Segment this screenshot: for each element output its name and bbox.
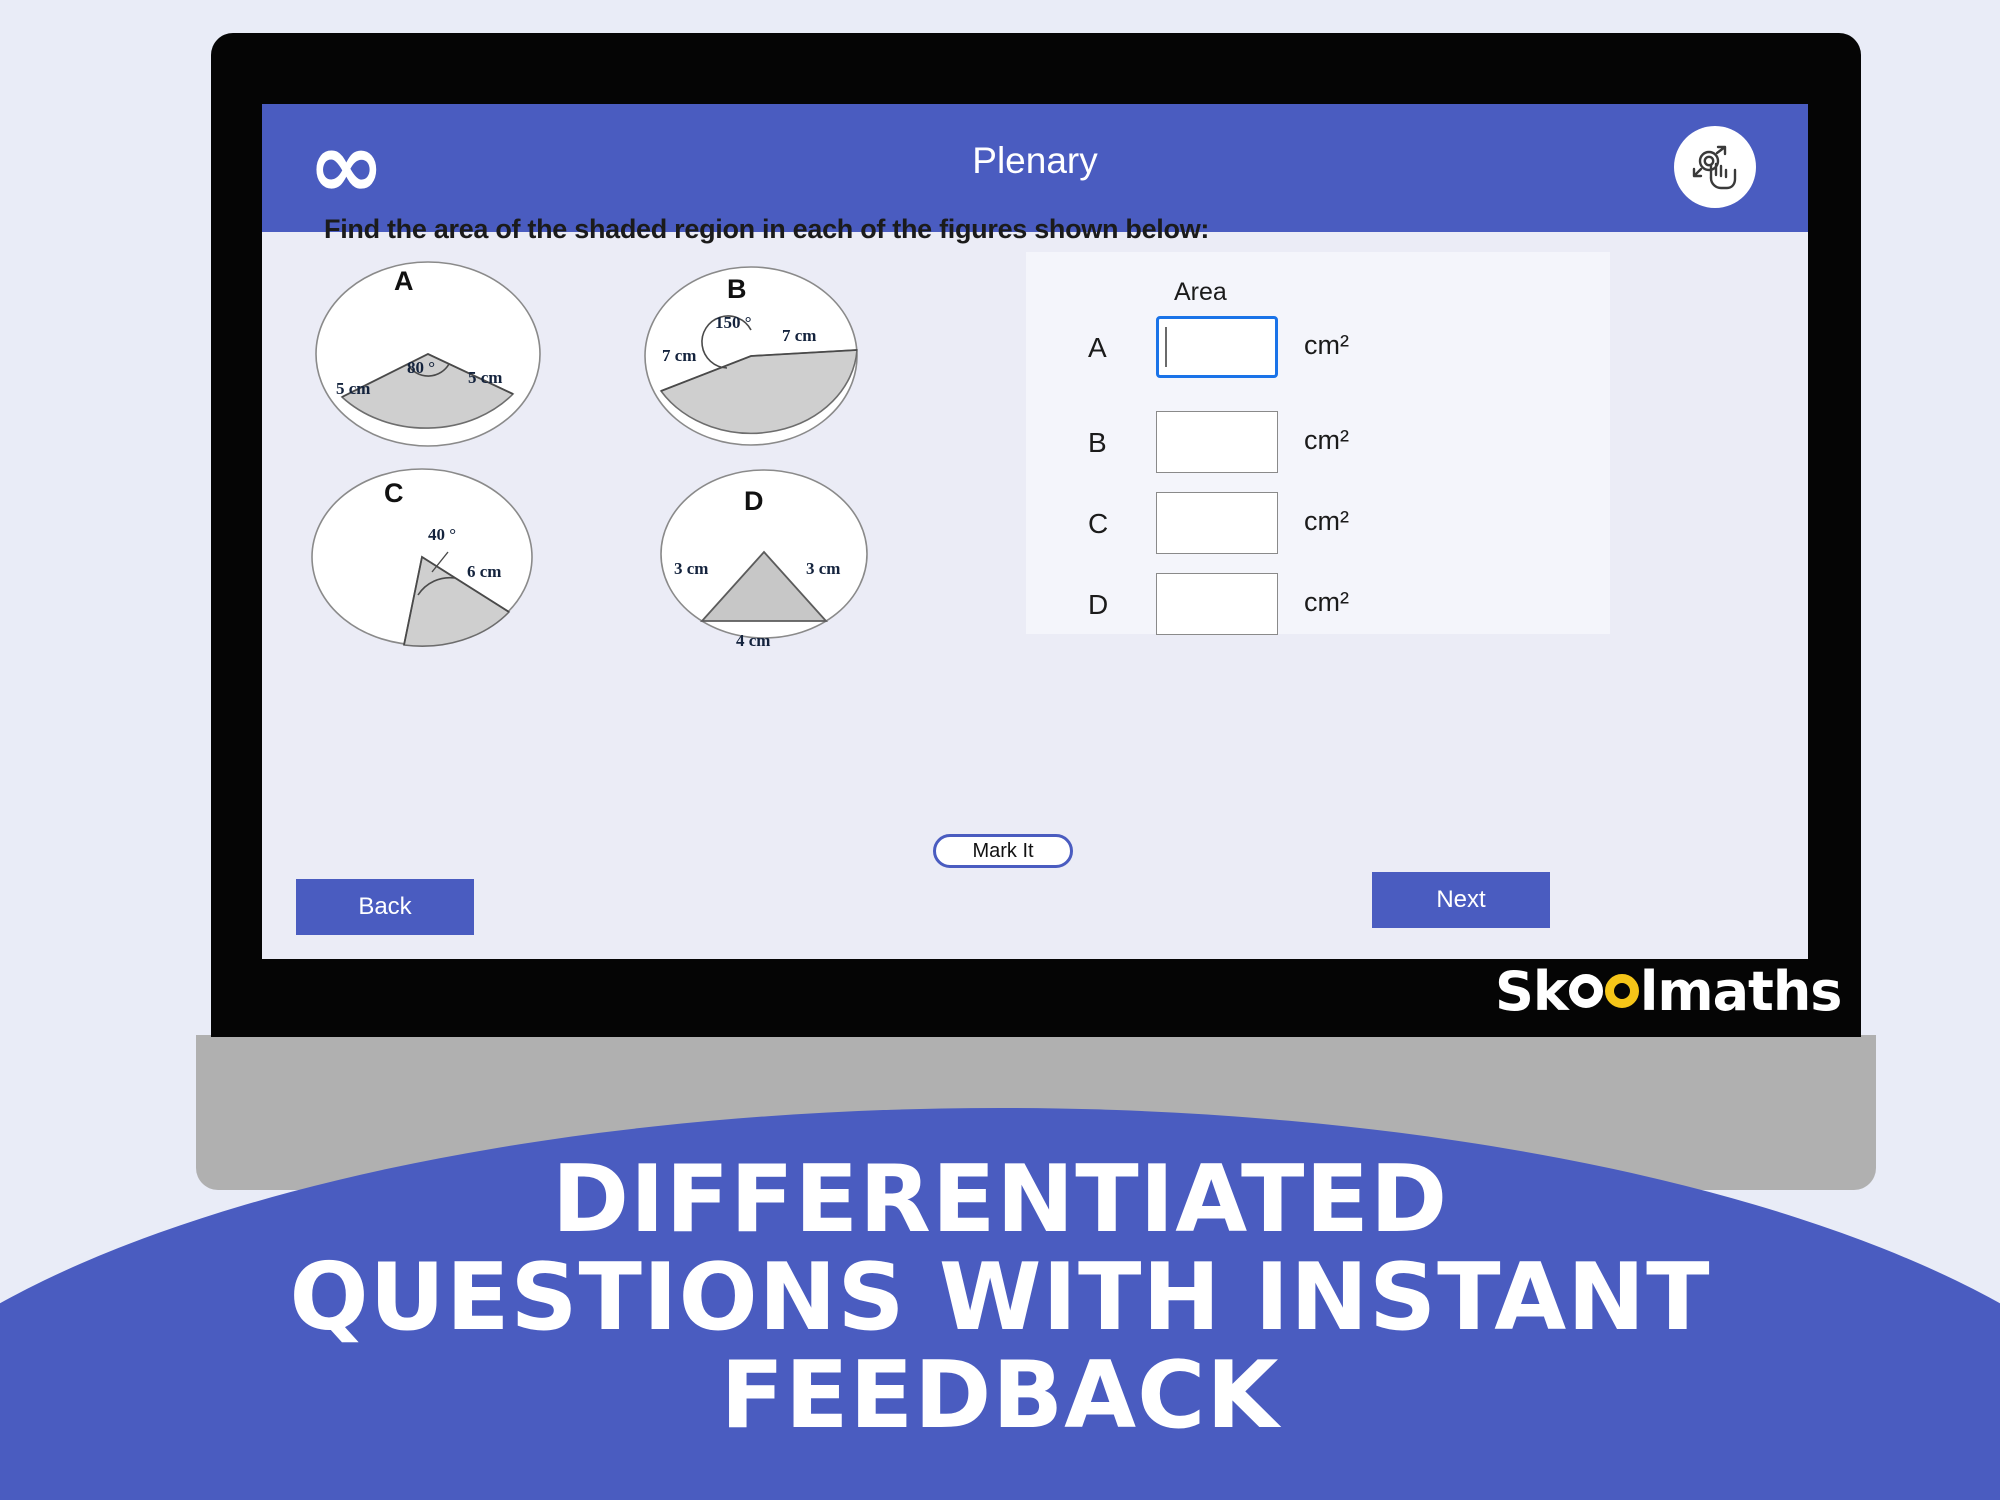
svg-text:5 cm: 5 cm (468, 368, 502, 387)
question-prompt: Find the area of the shaded region in ea… (324, 214, 1209, 245)
area-column-header: Area (1174, 278, 1227, 307)
answer-unit-c: cm² (1304, 506, 1349, 537)
answer-row-b: B cm² (1026, 411, 1610, 473)
svg-text:5 cm: 5 cm (336, 379, 370, 398)
figure-b: B 150 ° 7 cm 7 cm (639, 258, 869, 453)
next-button[interactable]: Next (1372, 872, 1550, 928)
answer-input-b[interactable] (1156, 411, 1278, 473)
answer-panel: Area A cm² B cm² C cm² D cm (1026, 252, 1610, 634)
brand-prefix: Sk (1495, 960, 1568, 1023)
skoolmaths-logo: Sk lmaths (1495, 963, 1841, 1019)
svg-text:80 °: 80 ° (407, 358, 435, 377)
answer-label-c: C (1088, 508, 1108, 540)
answer-label-b: B (1088, 427, 1107, 459)
answer-row-d: D cm² (1026, 573, 1610, 635)
promo-banner-text: DIFFERENTIATED QUESTIONS WITH INSTANT FE… (0, 1150, 2000, 1444)
page-title: Plenary (262, 140, 1808, 182)
figure-c: C 40 ° 6 cm (304, 460, 544, 655)
answer-unit-a: cm² (1304, 330, 1349, 361)
drag-gesture-icon[interactable] (1674, 126, 1756, 208)
svg-text:40 °: 40 ° (428, 525, 456, 544)
svg-text:D: D (744, 486, 764, 516)
svg-text:4 cm: 4 cm (736, 631, 770, 650)
promo-line-2: QUESTIONS WITH INSTANT (0, 1248, 2000, 1346)
svg-text:7 cm: 7 cm (662, 346, 696, 365)
answer-row-a: A cm² (1026, 316, 1610, 378)
back-button[interactable]: Back (296, 879, 474, 935)
answer-input-a[interactable] (1156, 316, 1278, 378)
poster-canvas: ∞ Plenary Find the area of the shaded re… (0, 0, 2000, 1500)
svg-text:3 cm: 3 cm (806, 559, 840, 578)
promo-line-3: FEEDBACK (0, 1346, 2000, 1444)
promo-line-1: DIFFERENTIATED (0, 1150, 2000, 1248)
brand-suffix: lmaths (1640, 960, 1842, 1023)
app-header: ∞ Plenary (262, 104, 1808, 232)
figure-d: D 3 cm 3 cm 4 cm (654, 460, 884, 660)
svg-text:C: C (384, 478, 404, 508)
figure-a: A 80 ° 5 cm 5 cm (308, 254, 548, 454)
answer-input-d[interactable] (1156, 573, 1278, 635)
brand-oo-icon (1568, 974, 1640, 1008)
ring-gold-icon (1605, 974, 1639, 1008)
answer-row-c: C cm² (1026, 492, 1610, 554)
answer-label-d: D (1088, 589, 1108, 621)
svg-text:A: A (394, 266, 414, 296)
ring-white-icon (1569, 974, 1603, 1008)
svg-text:3 cm: 3 cm (674, 559, 708, 578)
svg-text:6 cm: 6 cm (467, 562, 501, 581)
svg-text:B: B (727, 274, 747, 304)
answer-input-c[interactable] (1156, 492, 1278, 554)
app-screen: ∞ Plenary Find the area of the shaded re… (262, 104, 1808, 959)
mark-it-button[interactable]: Mark It (933, 834, 1073, 868)
text-caret (1165, 327, 1167, 367)
svg-text:7 cm: 7 cm (782, 326, 816, 345)
answer-unit-d: cm² (1304, 587, 1349, 618)
svg-text:150 °: 150 ° (715, 313, 752, 332)
answer-unit-b: cm² (1304, 425, 1349, 456)
answer-label-a: A (1088, 332, 1107, 364)
